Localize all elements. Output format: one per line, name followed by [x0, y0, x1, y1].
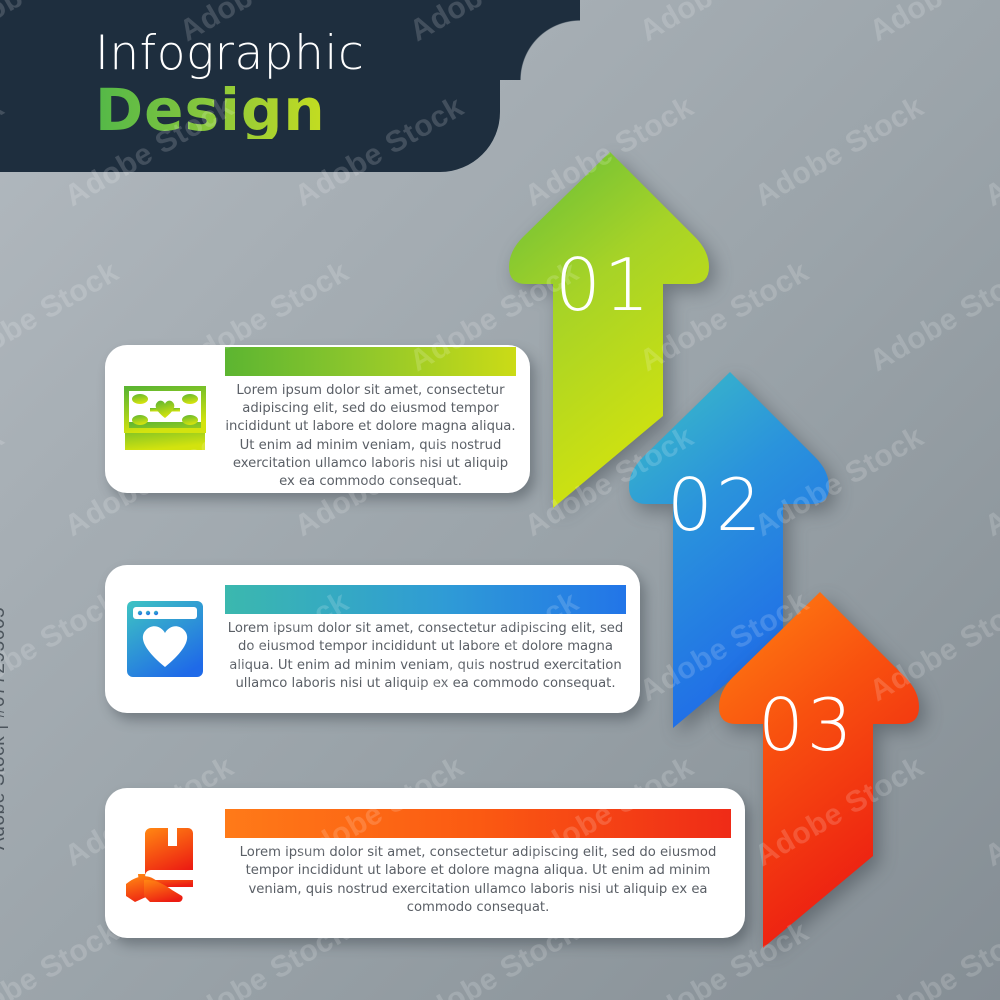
banner-subtitle: Design [95, 81, 364, 139]
watermark-text: Adobe Stock [864, 255, 1000, 379]
step-text-2: Lorem ipsum dolor sit amet, consectetur … [225, 620, 626, 692]
watermark-text: Adobe Stock [979, 90, 1000, 214]
step-title-1: Lorem ipsum [225, 347, 516, 376]
header-banner-notch [500, 0, 580, 80]
step-title-3: Lorem ipsum [225, 809, 731, 838]
watermark-text: Adobe Stock [979, 750, 1000, 874]
hand-holding-book-icon [105, 822, 225, 904]
step-card-3-body: Lorem ipsum Lorem ipsum dolor sit amet, … [225, 809, 745, 916]
watermark-text: Adobe Stock [0, 915, 125, 1000]
step-card-2-body: Lorem ipsum Lorem ipsum dolor sit amet, … [225, 585, 640, 692]
step-card-2[interactable]: Lorem ipsum Lorem ipsum dolor sit amet, … [105, 565, 640, 713]
step-card-3[interactable]: Lorem ipsum Lorem ipsum dolor sit amet, … [105, 788, 745, 938]
browser-heart-icon [105, 599, 225, 679]
money-heart-icon [105, 384, 225, 454]
step-title-2: Lorem ipsum [225, 585, 626, 614]
step-arrow-3[interactable] [705, 588, 935, 948]
step-text-3: Lorem ipsum dolor sit amet, consectetur … [225, 844, 731, 916]
watermark-text: Adobe Stock [634, 0, 815, 49]
step-text-1: Lorem ipsum dolor sit amet, consectetur … [225, 382, 516, 490]
watermark-text: Adobe Stock [864, 0, 1000, 49]
watermark-text: Adobe Stock [749, 90, 930, 214]
banner-title: Infographic [95, 30, 364, 77]
watermark-text: Adobe Stock [0, 420, 10, 544]
watermark-id: Adobe Stock | #677295605 [0, 607, 10, 850]
step-card-1-body: Lorem ipsum Lorem ipsum dolor sit amet, … [225, 347, 530, 490]
infographic-canvas: 01 02 03 [0, 0, 1000, 1000]
header-banner-text: Infographic Design [95, 30, 364, 139]
step-card-1[interactable]: Lorem ipsum Lorem ipsum dolor sit amet, … [105, 345, 530, 493]
watermark-text: Adobe Stock [979, 420, 1000, 544]
